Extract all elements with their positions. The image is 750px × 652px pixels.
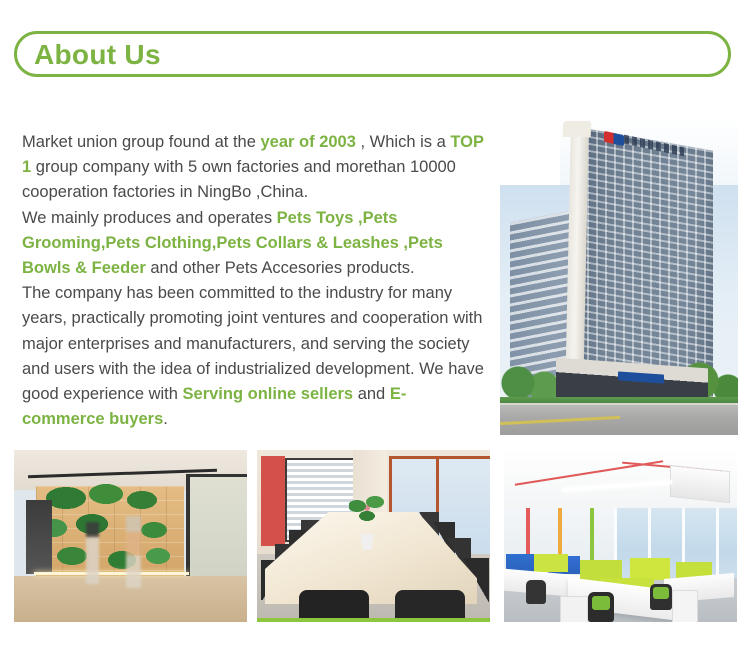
office-chair-3 bbox=[526, 580, 546, 604]
lobby-led-strip bbox=[34, 572, 189, 575]
meeting-room-photo bbox=[257, 450, 490, 622]
office-pedestal-2 bbox=[672, 590, 698, 622]
office-green-panel-4 bbox=[534, 554, 568, 572]
street-road bbox=[500, 405, 738, 435]
about-paragraph-1: Market union group found at the year of … bbox=[22, 130, 484, 206]
about-paragraph-2: We mainly produces and operates Pets Toy… bbox=[22, 206, 484, 282]
office-chair-2 bbox=[650, 584, 672, 610]
lobby-plant-wall-photo bbox=[14, 450, 247, 622]
about-paragraph-3: The company has been committed to the in… bbox=[22, 281, 484, 432]
about-p2-seg-1: We mainly produces and operates bbox=[22, 209, 277, 227]
about-p2-seg-3: and other Pets Accesories products. bbox=[146, 259, 415, 277]
office-pedestal-1 bbox=[560, 596, 588, 622]
building-roof-cap bbox=[563, 121, 592, 137]
lobby-person-walking-1 bbox=[86, 522, 99, 584]
office-chair-1 bbox=[588, 592, 614, 622]
about-p1-seg-1: Market union group found at the bbox=[22, 133, 261, 151]
office-ac-unit bbox=[670, 465, 730, 503]
lobby-green-plant-wall bbox=[38, 484, 182, 578]
about-p1-seg-5: group company with 5 own factories and m… bbox=[22, 158, 456, 201]
office-colored-columns bbox=[504, 508, 624, 560]
lobby-person-walking-2 bbox=[126, 516, 141, 588]
about-p1-seg-3: , Which is a bbox=[356, 133, 450, 151]
highlight-year-of-2003: year of 2003 bbox=[261, 133, 356, 151]
about-p3-seg-3: and bbox=[353, 385, 390, 403]
lobby-glass-door bbox=[186, 474, 247, 589]
open-plan-office-photo bbox=[504, 450, 737, 622]
office-green-panel-2 bbox=[630, 558, 670, 580]
about-p3-seg-5: . bbox=[163, 410, 168, 428]
highlight-serving-online-sellers: Serving online sellers bbox=[183, 385, 354, 403]
lobby-elevator-door bbox=[26, 500, 52, 574]
page-title: About Us bbox=[34, 36, 161, 74]
about-us-body-copy: Market union group found at the year of … bbox=[22, 130, 484, 432]
office-building-photo bbox=[500, 115, 738, 435]
meeting-room-green-strip bbox=[257, 618, 490, 622]
